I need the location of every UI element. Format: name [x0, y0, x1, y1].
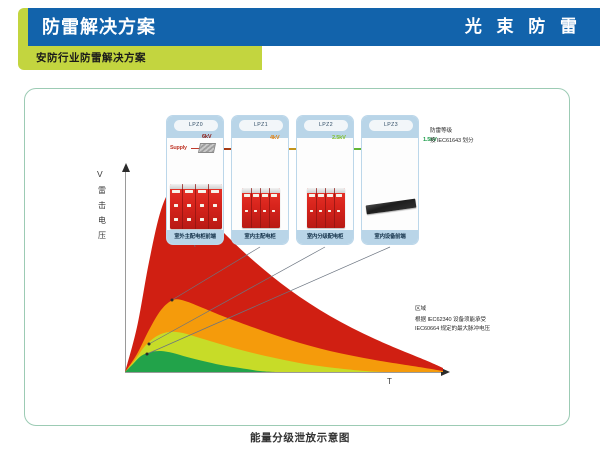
leader-dot-lpz3: [146, 353, 149, 356]
zone-box-lpz1[interactable]: LPZ1 室内主配电柜: [231, 115, 289, 245]
zone-footer-lpz3: 室内设备前端: [362, 230, 418, 244]
leader-line-lpz3: [147, 247, 390, 354]
slide-root: 防雷解决方案 光 束 防 雷 安防行业防雷解决方案 V 雷击电压 能量分级释放 …: [0, 0, 600, 450]
note-zone-line2: IEC60664 规定的最大脉冲电压: [415, 325, 490, 334]
supply-source-icon: [198, 143, 216, 153]
kv-label-lpz2: 2.5kV: [332, 135, 346, 141]
header-subtitle: 安防行业防雷解决方案: [36, 50, 146, 65]
zone-id-lpz1: LPZ1: [239, 120, 283, 131]
page-title: 防雷解决方案: [42, 14, 156, 40]
spd-device-lpz1: [242, 188, 280, 228]
rack-pdu-device-lpz3: [366, 199, 417, 215]
zone-footer-lpz2: 室内分级配电柜: [297, 230, 353, 244]
leader-line-lpz2: [149, 247, 325, 344]
leader-dot-lpz1: [171, 299, 174, 302]
brand-logo-text: 光 束 防 雷: [465, 15, 582, 39]
leader-line-lpz1: [172, 247, 260, 300]
note-level-body: 按 IEC61643 划分: [430, 137, 473, 146]
note-zone-title: 区域: [415, 305, 426, 314]
note-zone-line1: 根据 IEC62340 设备须能承受: [415, 316, 486, 325]
header-band-mask: [262, 46, 600, 72]
supply-marker: Supply: [166, 115, 226, 165]
kv-label-lpz1: 4kV: [270, 135, 279, 141]
diagram-panel: V 雷击电压 能量分级释放 T LPZ0: [24, 88, 570, 426]
zone-box-lpz3[interactable]: LPZ3 室内设备前端: [361, 115, 419, 245]
leader-dot-lpz2: [148, 343, 151, 346]
note-level-title: 防雷等级: [430, 127, 452, 136]
spd-device-lpz2: [307, 188, 345, 228]
zone-id-lpz2: LPZ2: [304, 120, 348, 131]
spd-device-lpz0: [170, 184, 222, 229]
zone-id-lpz3: LPZ3: [369, 120, 413, 131]
zone-footer-lpz1: 室内主配电柜: [232, 230, 288, 244]
figure-caption: 能量分级泄放示意图: [0, 430, 600, 445]
supply-label: Supply: [170, 145, 187, 151]
zone-footer-lpz0: 室外主配电柜前端: [167, 230, 223, 244]
kv-label-lpz0: 6kV: [202, 134, 211, 140]
